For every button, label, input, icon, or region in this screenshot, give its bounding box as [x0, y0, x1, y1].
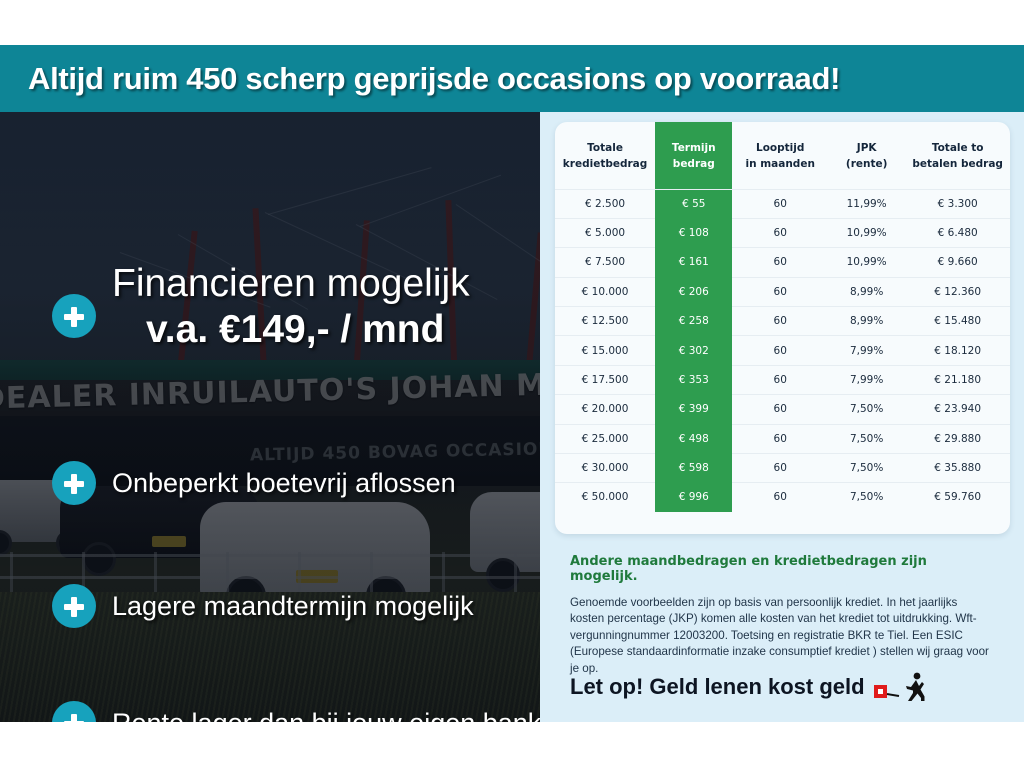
credit-warning: Let op! Geld lenen kost geld — [570, 672, 929, 702]
headline-banner: Altijd ruim 450 scherp geprijsde occasio… — [0, 45, 1024, 112]
cell-term: 60 — [732, 218, 828, 247]
column-header-instalment: Termijn bedrag — [655, 123, 732, 190]
rate-table-head: Totale kredietbedrag Termijn bedrag Loop… — [555, 123, 1010, 190]
rate-table-row: € 7.500€ 1616010,99%€ 9.660 — [555, 248, 1010, 277]
header-line: kredietbedrag — [563, 158, 647, 170]
cell-term: 60 — [732, 307, 828, 336]
rate-table-header-row: Totale kredietbedrag Termijn bedrag Loop… — [555, 123, 1010, 190]
rate-table-row: € 5.000€ 1086010,99%€ 6.480 — [555, 218, 1010, 247]
cell-instalment: € 353 — [655, 365, 732, 394]
cell-instalment: € 302 — [655, 336, 732, 365]
column-header-total-payable: Totale to betalen bedrag — [905, 123, 1010, 190]
cell-apr: 7,50% — [828, 395, 905, 424]
cell-term: 60 — [732, 248, 828, 277]
cell-instalment: € 996 — [655, 483, 732, 512]
cell-term: 60 — [732, 189, 828, 218]
cell-apr: 10,99% — [828, 248, 905, 277]
plus-circle-icon — [52, 461, 96, 505]
cell-total-credit: € 15.000 — [555, 336, 655, 365]
feature-hero-line1: Financieren mogelijk — [112, 262, 470, 306]
rate-table-row: € 50.000€ 996607,50%€ 59.760 — [555, 483, 1010, 512]
banner-headline: Altijd ruim 450 scherp geprijsde occasio… — [0, 61, 840, 97]
top-gutter — [0, 0, 1024, 45]
finance-info-panel: Totale kredietbedrag Termijn bedrag Loop… — [540, 112, 1024, 722]
rate-table-row: € 17.500€ 353607,99%€ 21.180 — [555, 365, 1010, 394]
cell-instalment: € 108 — [655, 218, 732, 247]
cell-apr: 7,50% — [828, 453, 905, 482]
cell-total-payable: € 3.300 — [905, 189, 1010, 218]
rate-table-row: € 25.000€ 498607,50%€ 29.880 — [555, 424, 1010, 453]
feature-hero-line2: v.a. €149,- / mnd — [112, 308, 470, 352]
cell-instalment: € 161 — [655, 248, 732, 277]
cell-total-credit: € 50.000 — [555, 483, 655, 512]
disclaimer-block: Andere maandbedragen en kredietbedragen … — [570, 554, 990, 677]
rate-table: Totale kredietbedrag Termijn bedrag Loop… — [555, 122, 1010, 512]
column-header-total-credit: Totale kredietbedrag — [555, 123, 655, 190]
cell-term: 60 — [732, 424, 828, 453]
header-line: betalen bedrag — [912, 158, 1003, 170]
cell-term: 60 — [732, 395, 828, 424]
feature-item-label: Onbeperkt boetevrij aflossen — [112, 468, 456, 499]
cell-apr: 8,99% — [828, 307, 905, 336]
cell-total-payable: € 12.360 — [905, 277, 1010, 306]
feature-item-1: Onbeperkt boetevrij aflossen — [52, 461, 456, 505]
cell-total-payable: € 21.180 — [905, 365, 1010, 394]
cell-term: 60 — [732, 336, 828, 365]
cell-total-payable: € 15.480 — [905, 307, 1010, 336]
feature-list: Financieren mogelijk v.a. €149,- / mnd O… — [0, 224, 560, 722]
cell-instalment: € 498 — [655, 424, 732, 453]
cell-apr: 7,50% — [828, 424, 905, 453]
feature-hero: Financieren mogelijk v.a. €149,- / mnd — [52, 262, 470, 352]
cell-term: 60 — [732, 453, 828, 482]
cell-apr: 7,50% — [828, 483, 905, 512]
cell-total-payable: € 35.880 — [905, 453, 1010, 482]
rate-table-row: € 20.000€ 399607,50%€ 23.940 — [555, 395, 1010, 424]
cell-total-payable: € 23.940 — [905, 395, 1010, 424]
rate-table-row: € 12.500€ 258608,99%€ 15.480 — [555, 307, 1010, 336]
header-line: Looptijd — [756, 142, 804, 154]
header-line: in maanden — [745, 158, 814, 170]
cell-instalment: € 206 — [655, 277, 732, 306]
cell-total-credit: € 30.000 — [555, 453, 655, 482]
cell-apr: 7,99% — [828, 365, 905, 394]
cell-total-credit: € 10.000 — [555, 277, 655, 306]
advertisement-banner: Altijd ruim 450 scherp geprijsde occasio… — [0, 0, 1024, 768]
cell-instalment: € 55 — [655, 189, 732, 218]
cell-total-credit: € 7.500 — [555, 248, 655, 277]
disclaimer-body: Genoemde voorbeelden zijn op basis van p… — [570, 595, 990, 677]
header-line: Totale to — [932, 142, 984, 154]
running-man-with-red-block-icon — [873, 672, 929, 702]
cell-apr: 7,99% — [828, 336, 905, 365]
header-line: (rente) — [846, 158, 888, 170]
cell-total-payable: € 6.480 — [905, 218, 1010, 247]
cell-instalment: € 598 — [655, 453, 732, 482]
cell-total-payable: € 9.660 — [905, 248, 1010, 277]
feature-item-3: Rente lager dan bij jouw eigen bank — [52, 701, 541, 722]
cell-total-credit: € 2.500 — [555, 189, 655, 218]
cell-term: 60 — [732, 277, 828, 306]
credit-warning-text: Let op! Geld lenen kost geld — [570, 674, 865, 700]
cell-term: 60 — [732, 365, 828, 394]
cell-term: 60 — [732, 483, 828, 512]
cell-total-credit: € 17.500 — [555, 365, 655, 394]
rate-table-row: € 15.000€ 302607,99%€ 18.120 — [555, 336, 1010, 365]
cell-apr: 10,99% — [828, 218, 905, 247]
feature-item-2: Lagere maandtermijn mogelijk — [52, 584, 474, 628]
cell-total-credit: € 12.500 — [555, 307, 655, 336]
cell-instalment: € 399 — [655, 395, 732, 424]
cell-apr: 8,99% — [828, 277, 905, 306]
feature-item-label: Rente lager dan bij jouw eigen bank — [112, 708, 541, 723]
rate-table-body: € 2.500€ 556011,99%€ 3.300€ 5.000€ 10860… — [555, 189, 1010, 512]
header-line: Totale — [587, 142, 623, 154]
column-header-term: Looptijd in maanden — [732, 123, 828, 190]
cell-apr: 11,99% — [828, 189, 905, 218]
plus-circle-icon — [52, 294, 96, 338]
cell-total-payable: € 18.120 — [905, 336, 1010, 365]
column-header-apr: JPK (rente) — [828, 123, 905, 190]
rate-table-row: € 30.000€ 598607,50%€ 35.880 — [555, 453, 1010, 482]
header-line: JPK — [857, 142, 877, 154]
cell-total-payable: € 29.880 — [905, 424, 1010, 453]
cell-total-credit: € 20.000 — [555, 395, 655, 424]
rate-table-row: € 10.000€ 206608,99%€ 12.360 — [555, 277, 1010, 306]
plus-circle-icon — [52, 584, 96, 628]
cell-total-credit: € 5.000 — [555, 218, 655, 247]
feature-item-label: Lagere maandtermijn mogelijk — [112, 591, 474, 622]
header-line: Termijn — [672, 142, 716, 154]
plus-circle-icon — [52, 701, 96, 722]
header-line: bedrag — [673, 158, 715, 170]
cell-total-payable: € 59.760 — [905, 483, 1010, 512]
cell-instalment: € 258 — [655, 307, 732, 336]
rate-table-card: Totale kredietbedrag Termijn bedrag Loop… — [555, 122, 1010, 534]
disclaimer-title: Andere maandbedragen en kredietbedragen … — [570, 554, 990, 584]
bottom-gutter — [0, 722, 1024, 768]
cell-total-credit: € 25.000 — [555, 424, 655, 453]
rate-table-row: € 2.500€ 556011,99%€ 3.300 — [555, 189, 1010, 218]
